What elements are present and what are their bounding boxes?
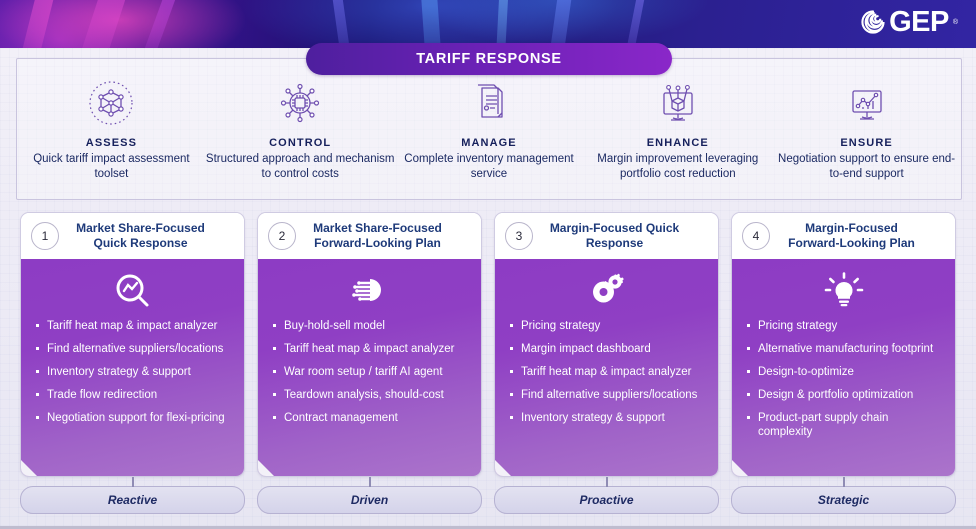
card-bullet-list: Buy-hold-sell model Tariff heat map & im… — [268, 319, 471, 434]
connector-line — [606, 477, 608, 487]
lightbulb-icon — [742, 271, 945, 311]
list-item: Find alternative suppliers/locations — [507, 388, 706, 402]
gep-spiral-icon — [860, 9, 886, 35]
card-body: Tariff heat map & impact analyzer Find a… — [21, 259, 244, 476]
list-item: Margin impact dashboard — [507, 342, 706, 356]
gears-icon — [505, 271, 708, 311]
card-header: 1 Market Share-Focused Quick Response — [21, 213, 244, 259]
card-body: Buy-hold-sell model Tariff heat map & im… — [258, 259, 481, 476]
capability-title: MANAGE — [461, 137, 517, 149]
connector-line — [843, 477, 845, 487]
strategy-card-3[interactable]: 3 Margin-Focused Quick Response — [494, 212, 719, 477]
ai-data-flow-icon — [268, 271, 471, 311]
posture-label-text: Driven — [351, 493, 388, 507]
list-item: Design & portfolio optimization — [744, 388, 943, 402]
posture-label-driven: Driven — [257, 486, 482, 514]
list-item: Tariff heat map & impact analyzer — [270, 342, 469, 356]
card-corner-fold — [258, 460, 274, 476]
list-item: Tariff heat map & impact analyzer — [33, 319, 232, 333]
card-bullet-list: Tariff heat map & impact analyzer Find a… — [31, 319, 234, 434]
gep-wordmark: GEP — [889, 9, 949, 35]
capability-assess: ASSESS Quick tariff impact assessment to… — [17, 75, 206, 195]
card-bullet-list: Pricing strategy Alternative manufacturi… — [742, 319, 945, 448]
banner-ray — [133, 0, 182, 48]
banner-ray — [420, 0, 444, 48]
card-header: 2 Market Share-Focused Forward-Looking P… — [258, 213, 481, 259]
list-item: Inventory strategy & support — [33, 365, 232, 379]
banner-ray — [545, 0, 574, 48]
capability-desc: Margin improvement leveraging portfolio … — [583, 152, 772, 182]
list-item: Trade flow redirection — [33, 388, 232, 402]
capability-desc: Structured approach and mechanism to con… — [206, 152, 395, 182]
posture-label-strategic: Strategic — [731, 486, 956, 514]
list-item: Pricing strategy — [744, 319, 943, 333]
list-item: Alternative manufacturing footprint — [744, 342, 943, 356]
capability-title: CONTROL — [269, 137, 331, 149]
capability-enhance: ENHANCE Margin improvement leveraging po… — [583, 75, 772, 195]
monitor-chart-icon — [843, 79, 891, 127]
card-corner-fold — [495, 460, 511, 476]
network-nodes-icon — [87, 79, 135, 127]
page-title: TARIFF RESPONSE — [306, 43, 672, 75]
connector-line — [369, 477, 371, 487]
card-number-badge: 2 — [268, 222, 296, 250]
card-title: Market Share-Focused Quick Response — [67, 221, 234, 251]
gep-logo: GEP ® — [860, 9, 958, 35]
card-body: Pricing strategy Alternative manufacturi… — [732, 259, 955, 476]
banner-ray — [494, 0, 509, 48]
capabilities-panel: TARIFF RESPONSE — [16, 58, 962, 200]
posture-labels: Reactive Driven Proactive Strategic — [20, 486, 956, 520]
list-item: Find alternative suppliers/locations — [33, 342, 232, 356]
posture-label-text: Strategic — [818, 493, 869, 507]
strategy-card-1[interactable]: 1 Market Share-Focused Quick Response — [20, 212, 245, 477]
capability-control: CONTROL Structured approach and mechanis… — [206, 75, 395, 195]
capability-title: ASSESS — [86, 137, 137, 149]
card-title: Margin-Focused Quick Response — [541, 221, 708, 251]
strategy-card-2[interactable]: 2 Market Share-Focused Forward-Looking P… — [257, 212, 482, 477]
capability-manage: MANAGE Complete inventory management ser… — [395, 75, 584, 195]
capability-title: ENHANCE — [647, 137, 709, 149]
banner-ray — [14, 0, 58, 48]
capability-desc: Quick tariff impact assessment toolset — [17, 152, 206, 182]
card-header: 3 Margin-Focused Quick Response — [495, 213, 718, 259]
card-header: 4 Margin-Focused Forward-Looking Plan — [732, 213, 955, 259]
content-area: TARIFF RESPONSE — [0, 48, 976, 529]
strategy-card-4[interactable]: 4 Margin-Focused Forward-Looking Plan — [731, 212, 956, 477]
list-item: Buy-hold-sell model — [270, 319, 469, 333]
posture-label-proactive: Proactive — [494, 486, 719, 514]
list-item: Tariff heat map & impact analyzer — [507, 365, 706, 379]
list-item: Negotiation support for flexi-pricing — [33, 411, 232, 425]
card-corner-fold — [21, 460, 37, 476]
capability-desc: Negotiation support to ensure end-to-end… — [772, 152, 961, 182]
magnifier-trend-icon — [31, 271, 234, 311]
capability-title: ENSURE — [840, 137, 892, 149]
list-item: Teardown analysis, should-cost — [270, 388, 469, 402]
capability-ensure: ENSURE Negotiation support to ensure end… — [772, 75, 961, 195]
monitor-cube-icon — [654, 79, 702, 127]
banner-ray — [619, 0, 648, 48]
list-item: Product-part supply chain complexity — [744, 411, 943, 439]
list-item: Pricing strategy — [507, 319, 706, 333]
documents-icon — [465, 79, 513, 127]
cpu-chip-network-icon — [276, 79, 324, 127]
capabilities-row: ASSESS Quick tariff impact assessment to… — [17, 75, 961, 195]
banner-ray — [72, 0, 131, 48]
strategy-cards: 1 Market Share-Focused Quick Response — [20, 212, 956, 477]
card-title: Market Share-Focused Forward-Looking Pla… — [304, 221, 471, 251]
card-body: Pricing strategy Margin impact dashboard… — [495, 259, 718, 476]
posture-label-reactive: Reactive — [20, 486, 245, 514]
banner-ray — [330, 0, 355, 48]
posture-label-text: Reactive — [108, 493, 157, 507]
posture-label-text: Proactive — [579, 493, 633, 507]
card-number-badge: 3 — [505, 222, 533, 250]
card-bullet-list: Pricing strategy Margin impact dashboard… — [505, 319, 708, 434]
list-item: Design-to-optimize — [744, 365, 943, 379]
capability-desc: Complete inventory management service — [395, 152, 584, 182]
list-item: War room setup / tariff AI agent — [270, 365, 469, 379]
card-number-badge: 1 — [31, 222, 59, 250]
card-title: Margin-Focused Forward-Looking Plan — [778, 221, 945, 251]
list-item: Contract management — [270, 411, 469, 425]
list-item: Inventory strategy & support — [507, 411, 706, 425]
top-banner: GEP ® — [0, 0, 976, 48]
connector-line — [132, 477, 134, 487]
card-corner-fold — [732, 460, 748, 476]
trademark-symbol: ® — [953, 19, 958, 26]
card-number-badge: 4 — [742, 222, 770, 250]
slide-root: GEP ® TARIFF RESPONSE — [0, 0, 976, 529]
